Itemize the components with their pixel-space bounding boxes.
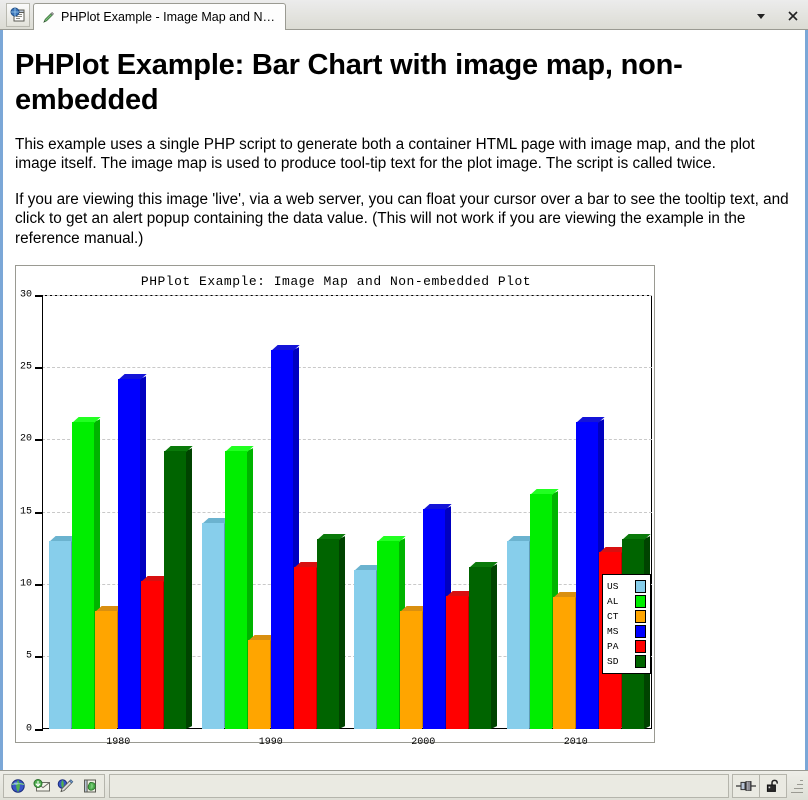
bar-face (164, 451, 186, 729)
y-axis-tick (35, 729, 43, 731)
bar[interactable] (354, 570, 376, 729)
bar[interactable] (400, 611, 422, 728)
bar[interactable] (95, 611, 117, 728)
legend-item: CT (607, 609, 646, 624)
bar-side (186, 448, 192, 729)
status-bar-left-buttons (3, 774, 105, 798)
y-axis-tick (35, 367, 43, 369)
y-axis-tick (35, 439, 43, 441)
application-window-icon[interactable] (6, 3, 30, 27)
bar[interactable] (271, 350, 293, 729)
bar-face (553, 597, 575, 729)
status-bar (0, 770, 808, 800)
bar[interactable] (141, 581, 163, 729)
legend-label: PA (607, 641, 618, 652)
tab-bar-controls (752, 7, 802, 25)
legend-swatch (635, 580, 646, 593)
resize-grip-icon[interactable] (789, 774, 805, 798)
bar-face (248, 640, 270, 728)
bar-face (225, 451, 247, 729)
y-axis-tick-label: 25 (20, 361, 32, 372)
bar-face (377, 541, 399, 729)
unlocked-padlock-icon[interactable] (759, 774, 787, 798)
bar-face (576, 422, 598, 729)
y-axis-tick-label: 10 (20, 578, 32, 589)
bar[interactable] (49, 541, 71, 729)
legend-label: US (607, 581, 618, 592)
y-axis-tick-label: 20 (20, 434, 32, 445)
bar[interactable] (423, 509, 445, 729)
y-axis-tick (35, 512, 43, 514)
plot-area: 051015202530 1980199020002010 (42, 295, 652, 729)
bar-face (72, 422, 94, 729)
y-axis-tick (35, 295, 43, 297)
bar-group (49, 295, 187, 729)
connection-icon[interactable] (732, 774, 760, 798)
intro-paragraph-2: If you are viewing this image 'live', vi… (15, 190, 793, 249)
y-axis-tick-label: 0 (26, 723, 32, 734)
bar[interactable] (118, 379, 140, 729)
page-title: PHPlot Example: Bar Chart with image map… (15, 48, 793, 119)
tab-phplot-example[interactable]: PHPlot Example - Image Map and N… (33, 3, 286, 30)
bar[interactable] (225, 451, 247, 729)
bar-face (446, 596, 468, 729)
intro-paragraph-1: This example uses a single PHP script to… (15, 135, 793, 174)
browser-window: PHPlot Example - Image Map and N… PHPlot… (0, 0, 808, 800)
bar-face (469, 567, 491, 729)
y-axis-tick-label: 15 (20, 506, 32, 517)
chart-legend: USALCTMSPASD (602, 574, 651, 674)
legend-label: SD (607, 656, 618, 667)
globe-icon[interactable] (6, 775, 30, 797)
plot-image[interactable]: PHPlot Example: Image Map and Non-embedd… (15, 265, 655, 743)
x-axis-tick-label: 2010 (564, 737, 588, 748)
bar[interactable] (248, 640, 270, 728)
status-bar-right-cells (733, 774, 805, 798)
bar-side (491, 564, 497, 729)
x-axis-tick-label: 2000 (411, 737, 435, 748)
legend-item: US (607, 579, 646, 594)
y-axis-tick (35, 584, 43, 586)
bar[interactable] (294, 567, 316, 729)
bar-face (354, 570, 376, 729)
x-axis-tick-label: 1990 (259, 737, 283, 748)
legend-item: SD (607, 654, 646, 669)
close-icon[interactable] (784, 7, 802, 25)
bar-group (354, 295, 492, 729)
legend-swatch (635, 595, 646, 608)
bar-face (294, 567, 316, 729)
bar-side (339, 536, 345, 728)
x-axis-tick-label: 1980 (106, 737, 130, 748)
bar-face (49, 541, 71, 729)
bar-face (423, 509, 445, 729)
bar[interactable] (553, 597, 575, 729)
bar-face (118, 379, 140, 729)
legend-swatch (635, 655, 646, 668)
legend-label: CT (607, 611, 618, 622)
legend-swatch (635, 625, 646, 638)
chevron-down-icon[interactable] (752, 7, 770, 25)
legend-item: AL (607, 594, 646, 609)
bar-face (530, 494, 552, 728)
y-axis-tick-label: 5 (26, 651, 32, 662)
bar[interactable] (530, 494, 552, 728)
bar[interactable] (469, 567, 491, 729)
tab-label: PHPlot Example - Image Map and N… (61, 10, 275, 24)
bar[interactable] (317, 539, 339, 729)
chart-title: PHPlot Example: Image Map and Non-embedd… (16, 274, 656, 289)
page-content: PHPlot Example: Bar Chart with image map… (0, 30, 808, 770)
legend-item: MS (607, 624, 646, 639)
legend-item: PA (607, 639, 646, 654)
bar-group (202, 295, 340, 729)
address-book-icon[interactable] (78, 775, 102, 797)
bar-face (95, 611, 117, 728)
legend-swatch (635, 610, 646, 623)
status-bar-message-area (109, 774, 729, 798)
bar[interactable] (72, 422, 94, 729)
tab-bar: PHPlot Example - Image Map and N… (0, 0, 808, 30)
bar[interactable] (446, 596, 468, 729)
y-axis-tick-label: 30 (20, 289, 32, 300)
bar-face (507, 541, 529, 729)
compose-icon[interactable] (54, 775, 78, 797)
legend-swatch (635, 640, 646, 653)
bar[interactable] (164, 451, 186, 729)
legend-label: MS (607, 626, 618, 637)
bar-face (317, 539, 339, 729)
pencil-icon (42, 11, 55, 24)
bar[interactable] (576, 422, 598, 729)
legend-label: AL (607, 596, 618, 607)
bar-face (271, 350, 293, 729)
bar-face (202, 523, 224, 728)
bar-face (400, 611, 422, 728)
bar[interactable] (377, 541, 399, 729)
bar[interactable] (202, 523, 224, 728)
bar[interactable] (507, 541, 529, 729)
bar-face (141, 581, 163, 729)
mail-icon[interactable] (30, 775, 54, 797)
y-axis-tick (35, 656, 43, 658)
